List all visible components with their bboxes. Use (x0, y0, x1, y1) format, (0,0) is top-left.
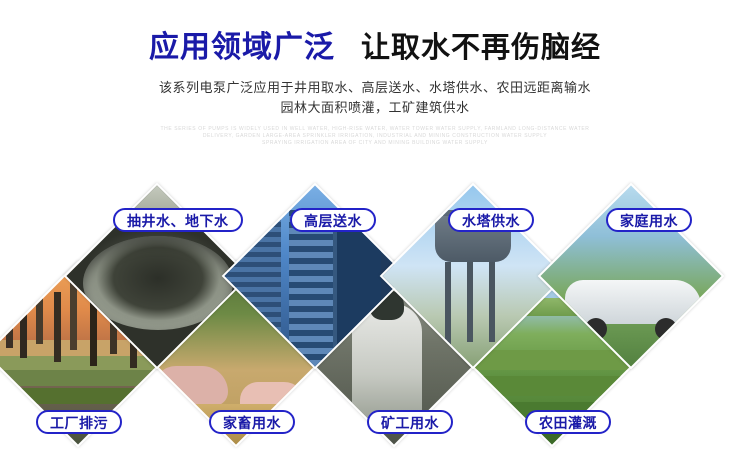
promo-banner: 应用领域广泛 让取水不再伤脑经 该系列电泵广泛应用于井用取水、高层送水、水塔供水… (0, 0, 750, 468)
label-farmland-irrigation: 农田灌溉 (525, 410, 611, 434)
english-caption-line-2: DELIVERY, GARDEN LARGE-AREA SPRINKLER IR… (0, 133, 750, 140)
label-factory-drainage: 工厂排污 (36, 410, 122, 434)
label-household-water: 家庭用水 (606, 208, 692, 232)
label-water-tower-supply: 水塔供水 (448, 208, 534, 232)
label-high-rise-water: 高层送水 (290, 208, 376, 232)
page-title: 应用领域广泛 (149, 22, 335, 66)
label-miner-water: 矿工用水 (367, 410, 453, 434)
description: 该系列电泵广泛应用于井用取水、高层送水、水塔供水、农田远距离输水 园林大面积喷灌… (0, 78, 750, 118)
title-row: 应用领域广泛 让取水不再伤脑经 (0, 22, 750, 66)
description-line-1: 该系列电泵广泛应用于井用取水、高层送水、水塔供水、农田远距离输水 (0, 78, 750, 98)
label-well-groundwater: 抽井水、地下水 (113, 208, 243, 232)
application-diamond-grid: 抽井水、地下水 高层送水 水塔供水 家庭用水 工厂排污 家畜用水 矿工用水 农田… (0, 170, 750, 468)
english-caption: THE SERIES OF PUMPS IS WIDELY USED IN WE… (0, 126, 750, 147)
english-caption-line-1: THE SERIES OF PUMPS IS WIDELY USED IN WE… (0, 126, 750, 133)
page-subtitle: 让取水不再伤脑经 (361, 24, 601, 66)
english-caption-line-3: SPRAYING IRRIGATION AREA OF CITY AND MIN… (0, 140, 750, 147)
description-line-2: 园林大面积喷灌，工矿建筑供水 (0, 98, 750, 118)
banner-header: 应用领域广泛 让取水不再伤脑经 该系列电泵广泛应用于井用取水、高层送水、水塔供水… (0, 0, 750, 147)
label-livestock-water: 家畜用水 (209, 410, 295, 434)
